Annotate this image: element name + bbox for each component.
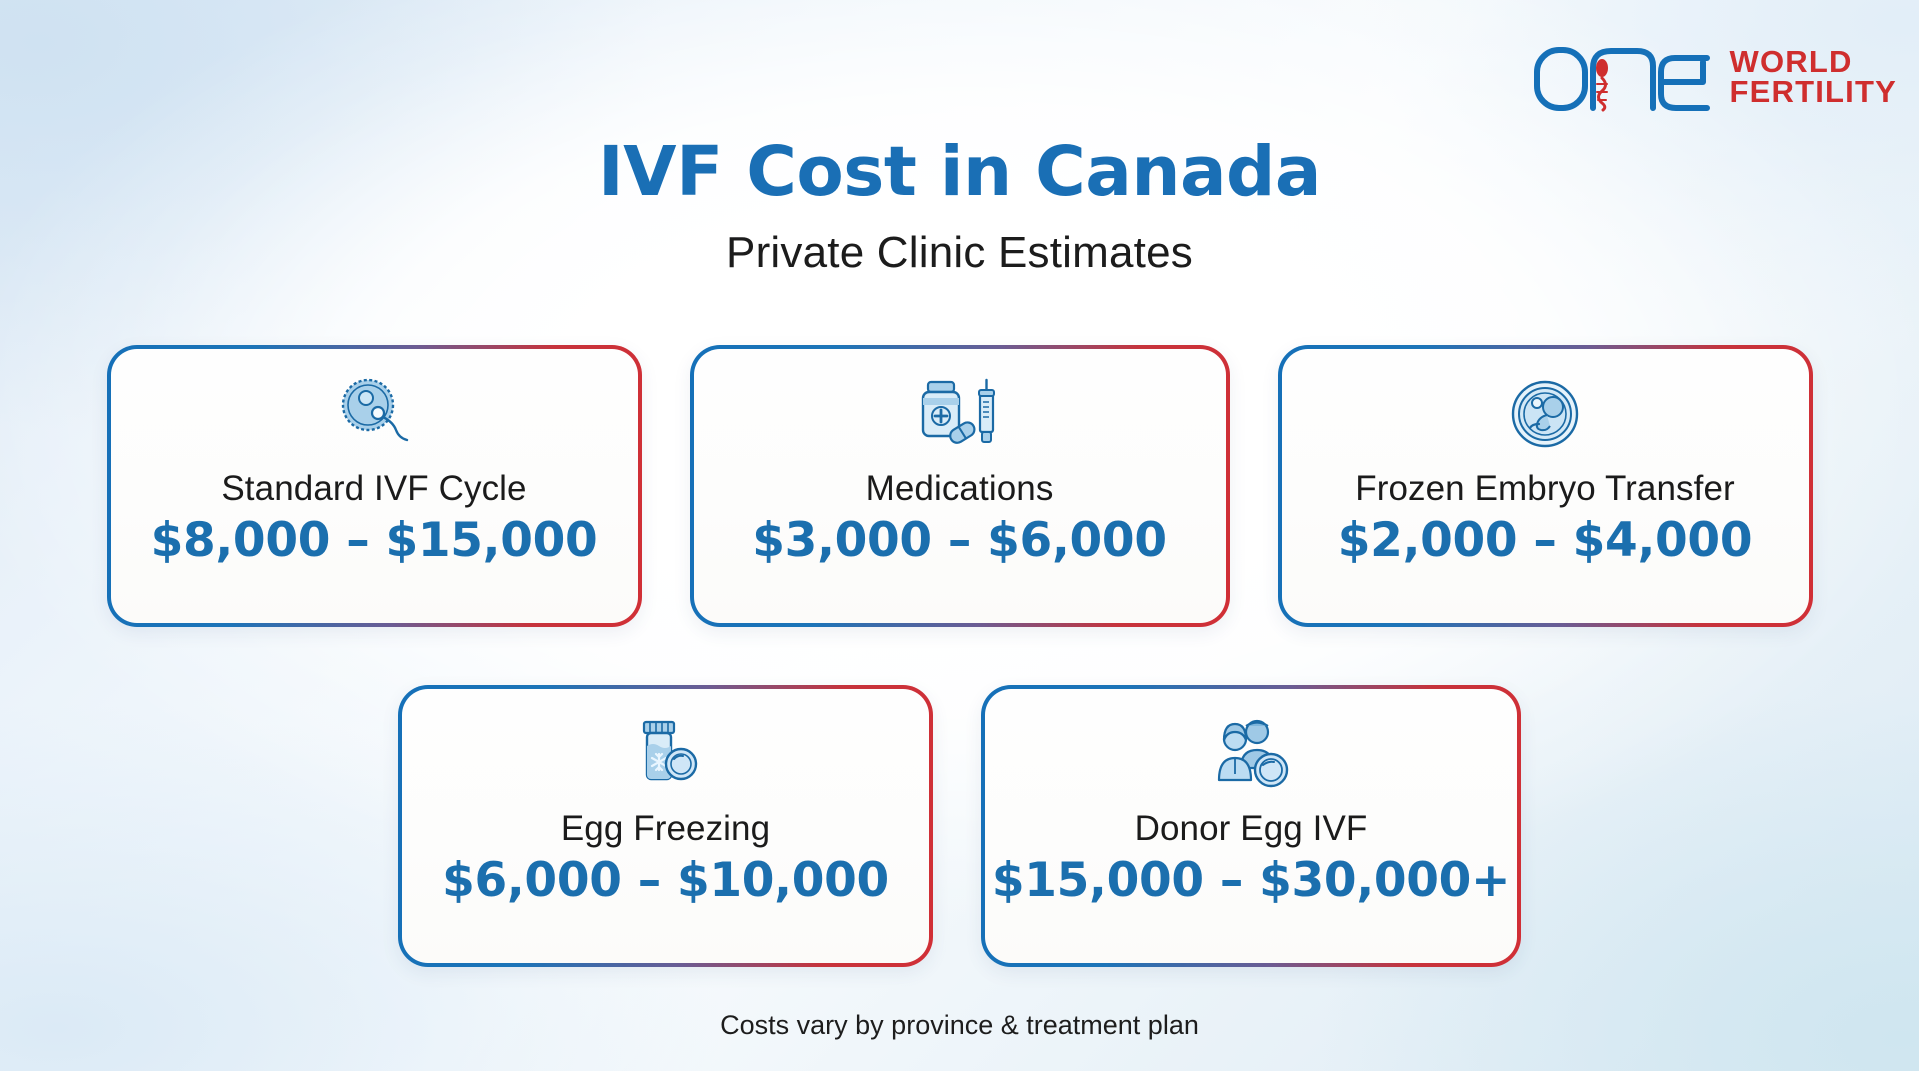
cost-card-price: $2,000 – $4,000 [1338, 513, 1752, 568]
brand-word-world: WORLD [1729, 47, 1897, 77]
cost-card-label: Medications [866, 469, 1054, 509]
embryo-icon [1503, 371, 1587, 457]
cost-card-frozen-embryo-transfer: Frozen Embryo Transfer $2,000 – $4,000 [1278, 345, 1813, 627]
brand-word-fertility: FERTILITY [1729, 77, 1897, 107]
donor-couple-icon [1205, 711, 1297, 797]
footer-note: Costs vary by province & treatment plan [0, 1010, 1919, 1041]
cost-card-price: $3,000 – $6,000 [752, 513, 1166, 568]
page-title: IVF Cost in Canada [0, 132, 1919, 212]
egg-sperm-icon [332, 371, 416, 457]
cost-card-label: Donor Egg IVF [1135, 809, 1368, 849]
cost-card-donor-egg-ivf: Donor Egg IVF $15,000 – $30,000+ [981, 685, 1521, 967]
infographic-canvas: WORLD FERTILITY IVF Cost in Canada Priva… [0, 0, 1919, 1071]
cost-card-price: $15,000 – $30,000+ [992, 853, 1510, 908]
cost-card-medications: Medications $3,000 – $6,000 [690, 345, 1230, 627]
brand-logo: WORLD FERTILITY [1531, 38, 1897, 116]
cost-card-label: Frozen Embryo Transfer [1355, 469, 1735, 509]
page-subtitle: Private Clinic Estimates [0, 228, 1919, 278]
brand-wordmark: WORLD FERTILITY [1729, 47, 1897, 107]
cards-row-top: Standard IVF Cycle $8,000 – $15,000 [0, 345, 1919, 627]
cost-card-price: $6,000 – $10,000 [442, 853, 889, 908]
cost-card-standard-ivf-cycle: Standard IVF Cycle $8,000 – $15,000 [107, 345, 642, 627]
cost-card-price: $8,000 – $15,000 [151, 513, 598, 568]
cards-row-bottom: Egg Freezing $6,000 – $10,000 [0, 685, 1919, 967]
one-logo-mark [1531, 38, 1731, 116]
medicine-bottle-syringe-icon [914, 371, 1006, 457]
cost-card-egg-freezing: Egg Freezing $6,000 – $10,000 [398, 685, 933, 967]
cost-card-label: Standard IVF Cycle [221, 469, 526, 509]
cryo-vial-snowflake-icon [624, 711, 708, 797]
cost-card-label: Egg Freezing [561, 809, 770, 849]
